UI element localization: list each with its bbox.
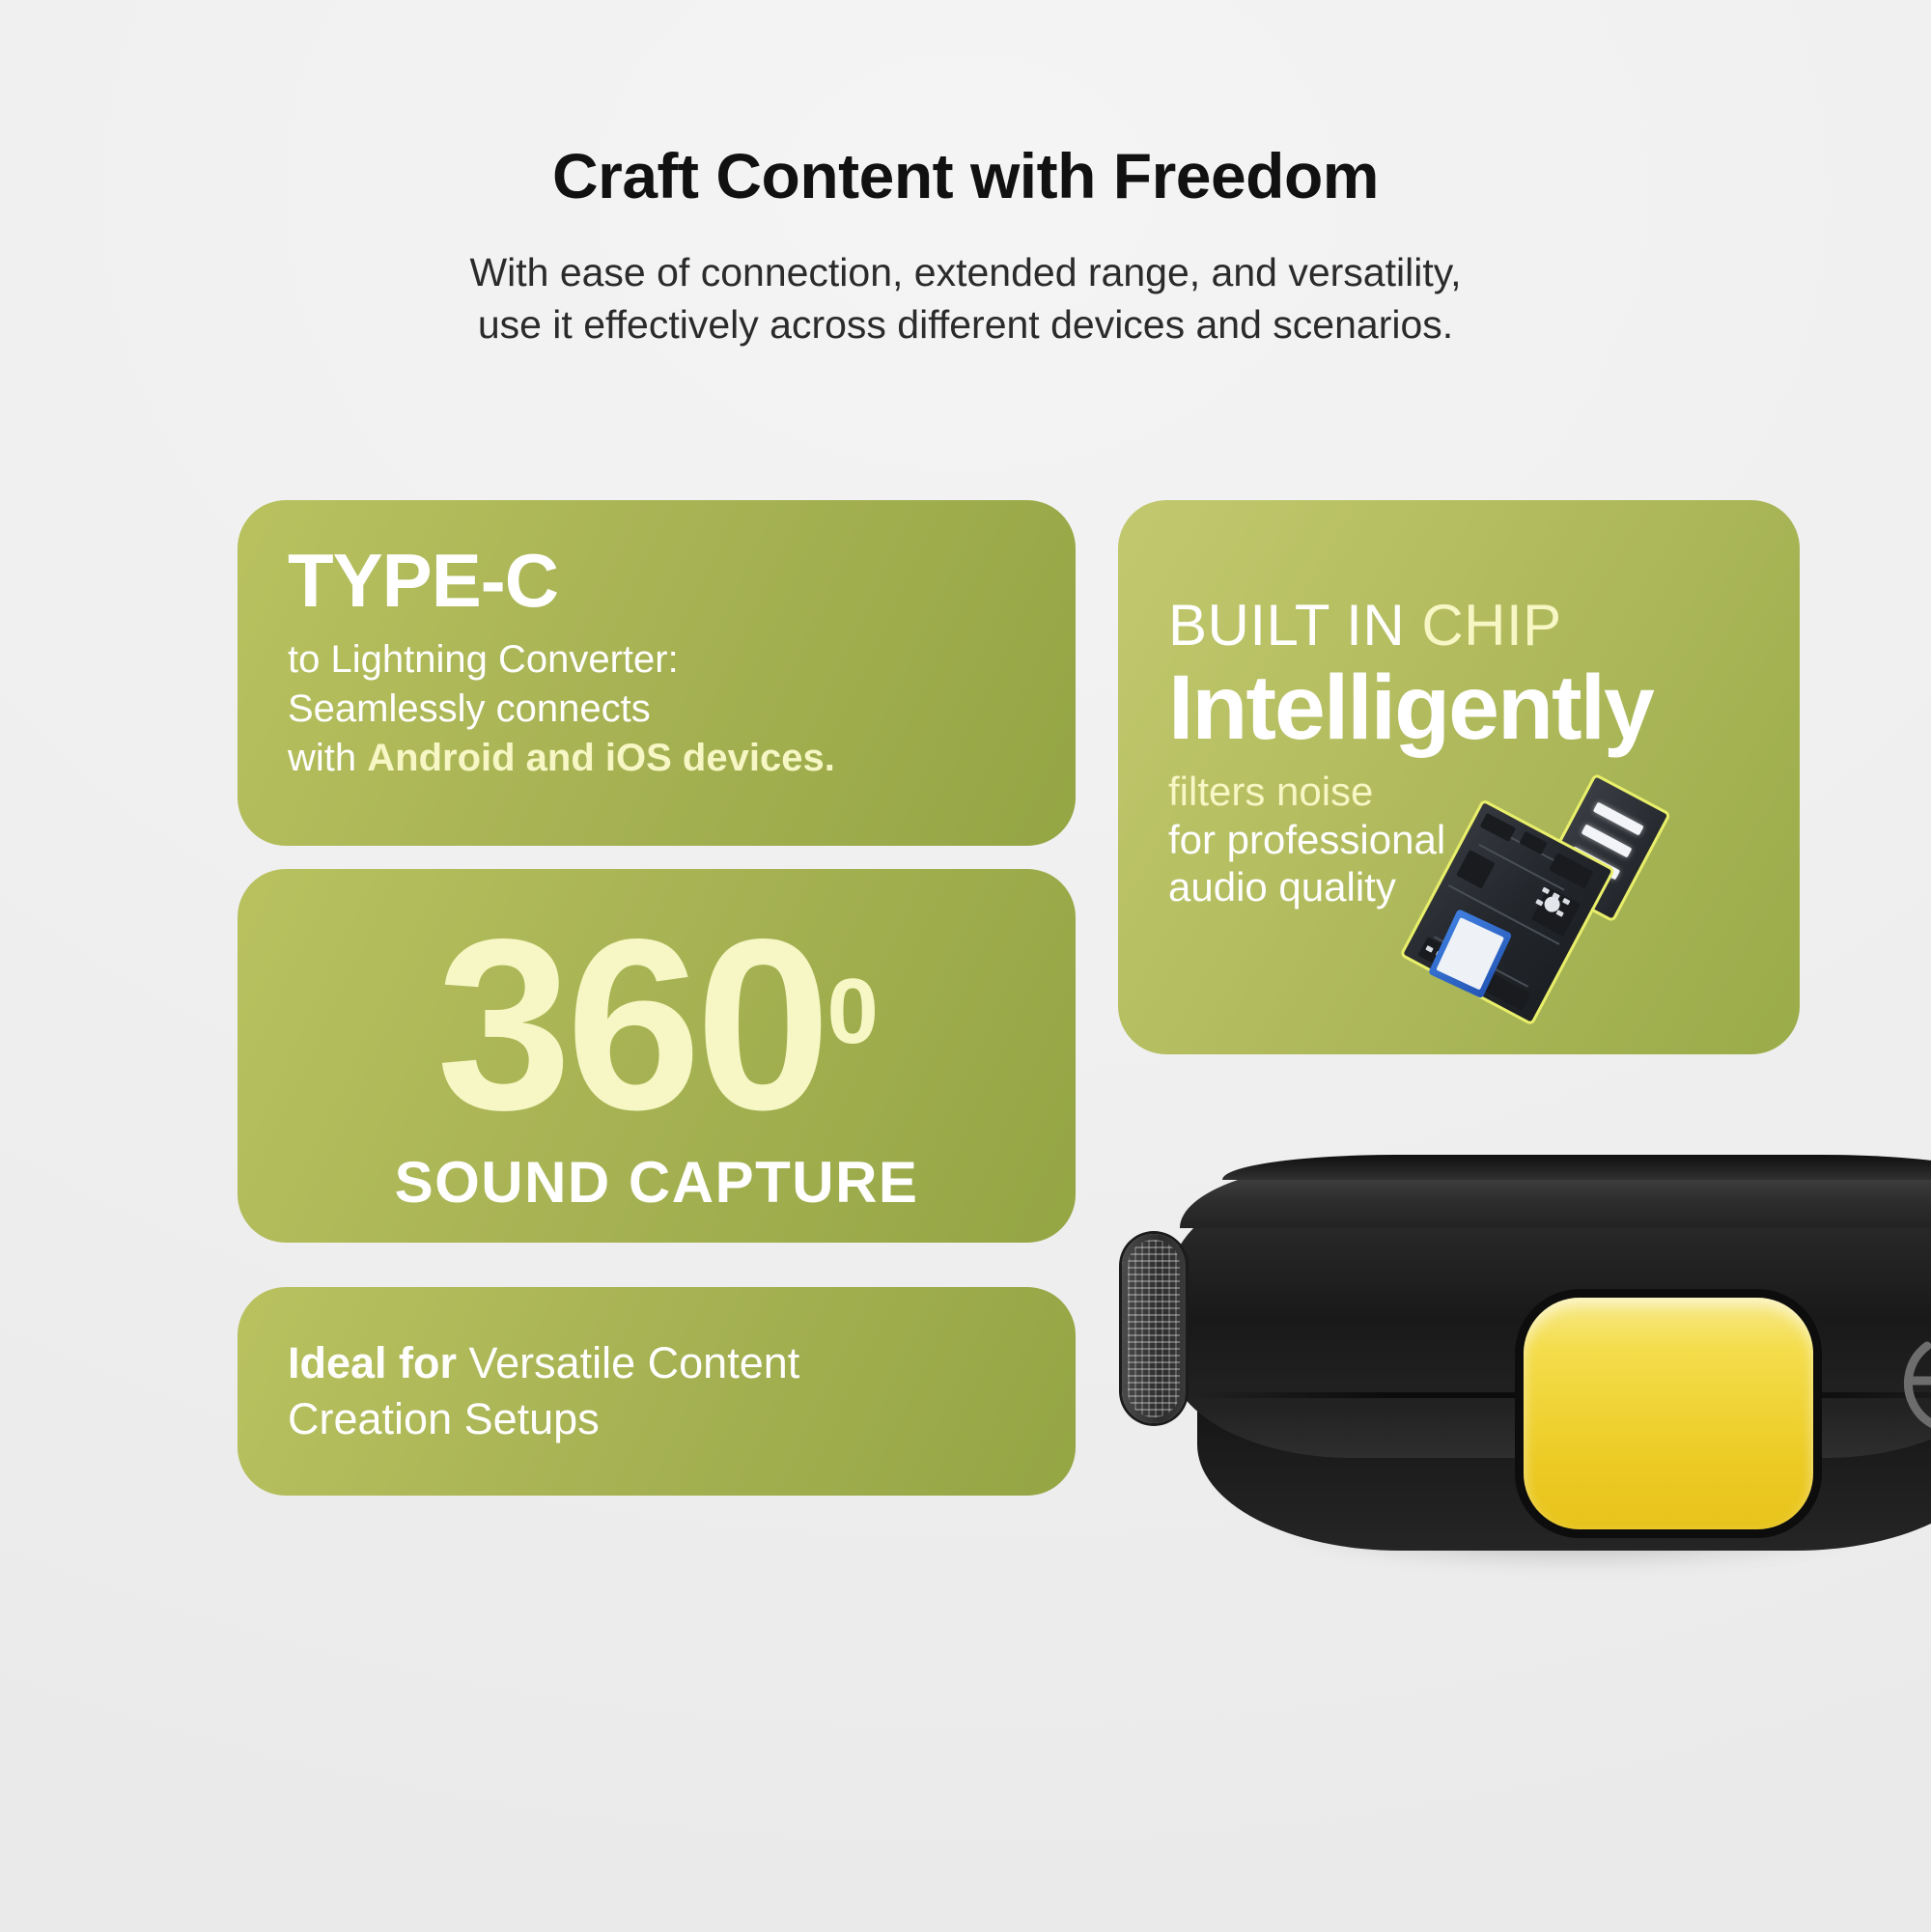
ideal-for-rest: Versatile Content xyxy=(469,1338,800,1387)
connector-pin xyxy=(1593,801,1644,835)
type-c-body-line-2: Seamlessly connects xyxy=(288,687,651,730)
degree-symbol: 0 xyxy=(827,960,879,1063)
connector-pin xyxy=(1581,824,1633,857)
ideal-for-line-2: Creation Setups xyxy=(288,1391,1025,1447)
device-top-edge xyxy=(1222,1155,1931,1180)
chip-headline-top: BUILT IN CHIP xyxy=(1168,597,1786,655)
ideal-for-line-1: Ideal for Versatile Content xyxy=(288,1335,1025,1391)
type-c-body-line-3-highlight: Android and iOS devices. xyxy=(367,737,835,779)
device-grip-clip[interactable] xyxy=(1122,1234,1186,1423)
chip-headline-intelligently: Intelligently xyxy=(1168,655,1786,754)
feature-card-360-sound-capture: 3600 SOUND CAPTURE xyxy=(238,869,1076,1243)
page-subtitle-line-2: use it effectively across different devi… xyxy=(478,302,1453,347)
degree-display: 3600 xyxy=(238,904,1076,1147)
type-c-body: to Lightning Converter: Seamlessly conne… xyxy=(288,618,1025,784)
feature-card-ideal-for: Ideal for Versatile Content Creation Set… xyxy=(238,1287,1076,1496)
device-record-button[interactable] xyxy=(1524,1298,1813,1529)
chip-headline-chip: CHIP xyxy=(1421,593,1561,658)
sound-capture-caption: SOUND CAPTURE xyxy=(238,1149,1076,1216)
page-subtitle-line-1: With ease of connection, extended range,… xyxy=(469,250,1461,294)
grip-texture xyxy=(1128,1240,1180,1417)
feature-card-type-c: TYPE-C to Lightning Converter: Seamlessl… xyxy=(238,500,1076,846)
ideal-for-bold-prefix: Ideal for xyxy=(288,1338,469,1387)
type-c-body-line-1: to Lightning Converter: xyxy=(288,638,679,681)
header: Craft Content with Freedom With ease of … xyxy=(0,0,1931,351)
power-icon xyxy=(1892,1317,1931,1442)
degree-number: 360 xyxy=(436,889,825,1161)
page-subtitle: With ease of connection, extended range,… xyxy=(0,210,1931,350)
chip-headline-built-in: BUILT IN xyxy=(1168,593,1421,658)
type-c-body-line-3-prefix: with xyxy=(288,737,367,779)
product-device-image xyxy=(1130,1155,1931,1560)
page-title: Craft Content with Freedom xyxy=(0,0,1931,210)
type-c-title: TYPE-C xyxy=(288,543,1025,618)
